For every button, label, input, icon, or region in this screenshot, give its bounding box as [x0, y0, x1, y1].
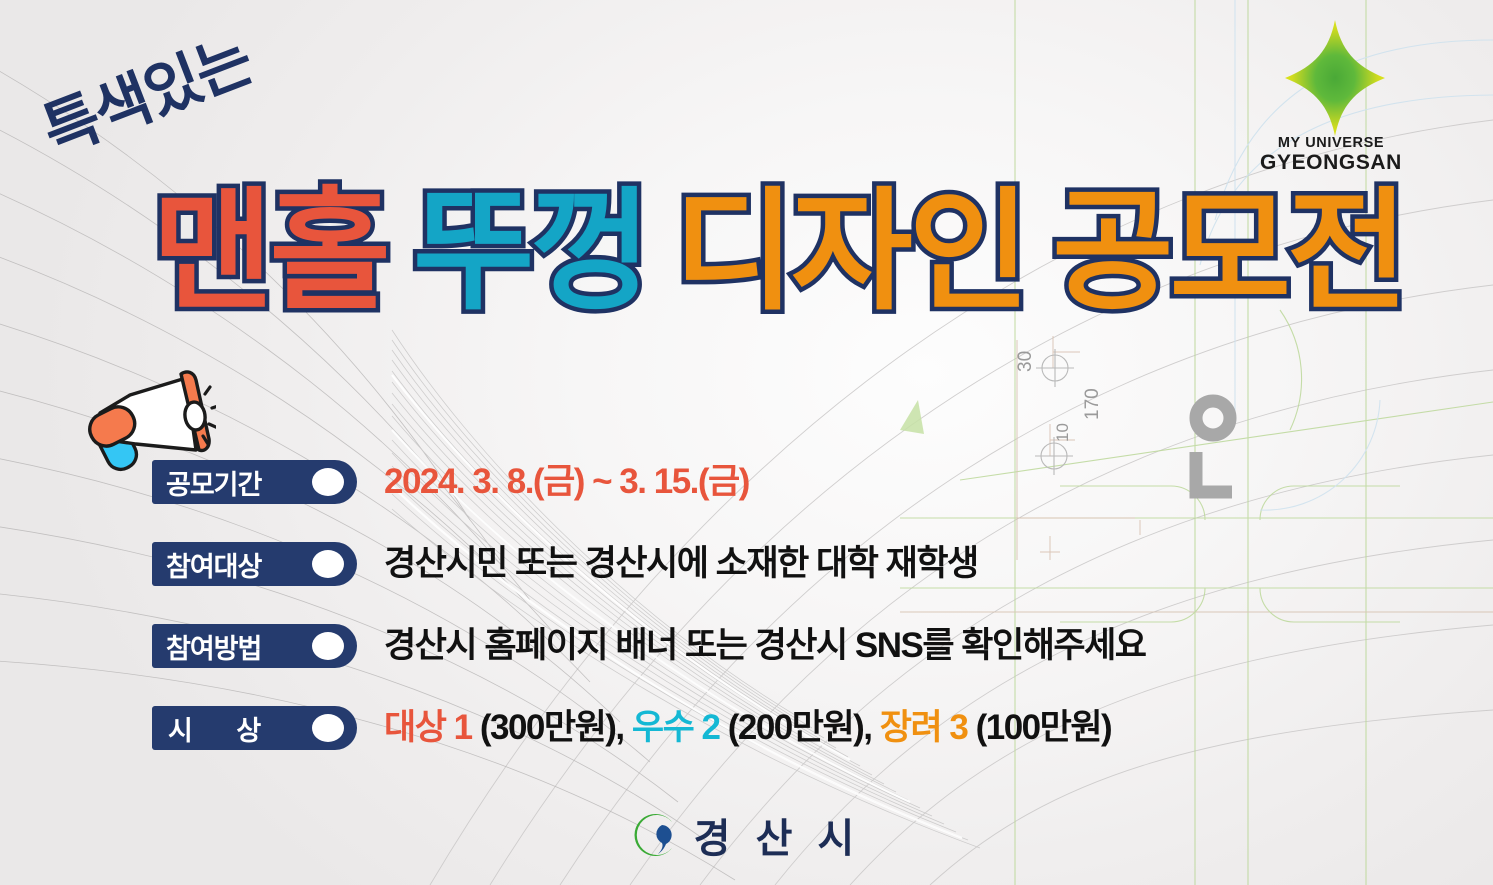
label-text-howto: 참여방법	[166, 627, 261, 666]
poster-canvas: 30 170 10 MY UNIVERSE GYEONGSAN	[0, 0, 1493, 885]
brand-line-1: MY UNIVERSE	[1231, 136, 1431, 152]
value-period-date: 2024. 3. 8.(금) ~ 3. 15.(금)	[384, 462, 749, 501]
label-pill-eligibility: 참여대상	[152, 542, 357, 586]
dimension-label-30: 30	[1015, 351, 1036, 372]
pill-dot-icon	[312, 632, 344, 660]
brand-logo: MY UNIVERSE GYEONGSAN	[1231, 18, 1431, 193]
info-row-eligibility: 참여대상 경산시민 또는 경산시에 소재한 대학 재학생	[152, 534, 1452, 616]
gyeongsan-city-emblem-icon	[632, 811, 680, 859]
prize-excellence-amount: (200만원),	[719, 708, 879, 747]
value-howto: 경산시 홈페이지 배너 또는 경산시 SNS를 확인해주세요	[384, 622, 1146, 670]
value-howto-text: 경산시 홈페이지 배너 또는 경산시 SNS를 확인해주세요	[384, 626, 1146, 665]
footer-city-logo: 경 산 시	[0, 806, 1493, 864]
prize-grand-amount: (300만원),	[472, 708, 632, 747]
gyeongsan-star-icon	[1283, 18, 1387, 138]
value-period: 2024. 3. 8.(금) ~ 3. 15.(금)	[384, 458, 749, 506]
footer-city-name: 경 산 시	[694, 806, 862, 864]
pill-dot-icon	[312, 714, 344, 742]
title-word-contest: 공모전	[1052, 186, 1404, 318]
label-text-period: 공모기간	[166, 463, 261, 502]
title-subheading: 특색있는	[28, 10, 262, 171]
dimension-label-170: 170	[1082, 388, 1103, 420]
prize-excellence-rank: 우수 2	[632, 708, 720, 747]
title-word-design: 디자인	[674, 186, 1026, 318]
value-eligibility: 경산시민 또는 경산시에 소재한 대학 재학생	[384, 540, 978, 588]
label-pill-prizes: 시 상	[152, 706, 357, 750]
brand-line-2: GYEONGSAN	[1231, 152, 1431, 175]
info-row-period: 공모기간 2024. 3. 8.(금) ~ 3. 15.(금)	[152, 452, 1452, 534]
label-pill-period: 공모기간	[152, 460, 357, 504]
title-word-manhole: 맨홀	[152, 186, 387, 318]
info-row-prizes: 시 상 대상 1 (300만원), 우수 2 (200만원), 장려 3 (10…	[152, 698, 1452, 780]
brand-wordmark: MY UNIVERSE GYEONGSAN	[1231, 136, 1431, 174]
title-heading: 맨홀뚜껑디자인공모전	[152, 186, 1404, 318]
pill-dot-icon	[312, 468, 344, 496]
pill-dot-icon	[312, 550, 344, 578]
title-word-cover: 뚜껑	[413, 186, 648, 318]
prize-encouragement-amount: (100만원)	[967, 708, 1111, 747]
value-eligibility-text: 경산시민 또는 경산시에 소재한 대학 재학생	[384, 544, 978, 583]
prize-encouragement-rank: 장려 3	[880, 708, 968, 747]
dimension-label-10: 10	[1053, 423, 1072, 442]
label-text-eligibility: 참여대상	[166, 545, 261, 584]
info-row-howto: 참여방법 경산시 홈페이지 배너 또는 경산시 SNS를 확인해주세요	[152, 616, 1452, 698]
label-text-prizes: 시 상	[168, 709, 279, 748]
label-pill-howto: 참여방법	[152, 624, 357, 668]
prize-grand-rank: 대상 1	[384, 708, 472, 747]
value-prizes: 대상 1 (300만원), 우수 2 (200만원), 장려 3 (100만원)	[384, 704, 1111, 752]
info-list: 공모기간 2024. 3. 8.(금) ~ 3. 15.(금) 참여대상 경산시…	[152, 452, 1452, 780]
